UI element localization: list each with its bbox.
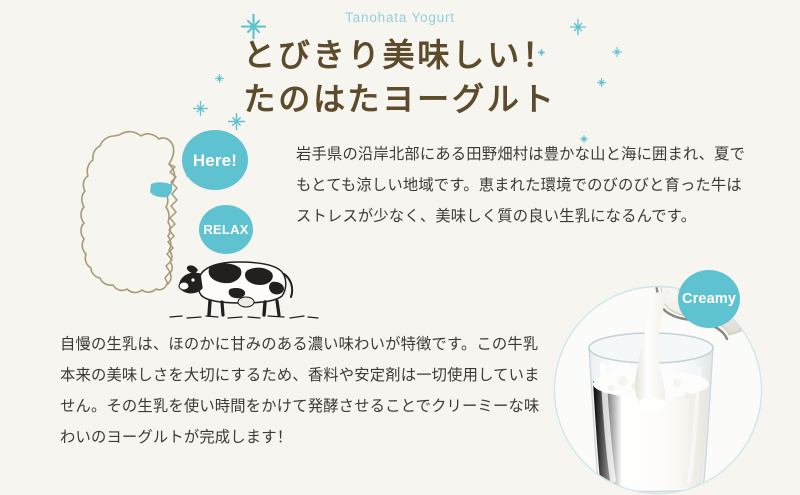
foam-bubble [684, 392, 690, 398]
tanohata-village-highlight [150, 182, 172, 197]
map-outline-path [81, 132, 175, 293]
cow-ground-line [170, 316, 318, 318]
foam-bubble [673, 379, 681, 387]
page-title: とびきり美味しい！ たのはたヨーグルト [0, 33, 800, 121]
speech-bubble-creamy-label: Creamy [682, 292, 736, 307]
promo-page: Tanohata Yogurt とびきり美味しい！ たのはたヨーグルト [0, 0, 800, 495]
cow-udder [238, 297, 254, 307]
foam-bubble [608, 385, 614, 391]
speech-bubble-here: Here! [182, 130, 248, 190]
cow-eye [191, 278, 194, 281]
intro-paragraph: 岩手県の沿岸北部にある田野畑村は豊かな山と海に囲まれ、夏でもとても涼しい地域です… [296, 139, 752, 232]
speech-bubble-here-label: Here! [193, 152, 237, 169]
cow-leg-rear-1 [264, 302, 265, 315]
milk-splash [636, 398, 668, 412]
page-title-line-2: たのはたヨーグルト [0, 77, 800, 121]
cow-svg [168, 252, 320, 324]
cow-muzzle [179, 282, 189, 290]
page-eyebrow-label: Tanohata Yogurt [0, 10, 800, 25]
speech-bubble-creamy: Creamy [678, 270, 740, 328]
speech-bubble-relax-label: RELAX [203, 223, 248, 236]
sparkle-icon [580, 130, 588, 138]
cow-leg-front-2 [222, 302, 223, 315]
speech-bubble-relax: RELAX [199, 205, 253, 254]
cow-leg-rear-2 [277, 301, 279, 315]
page-title-line-1: とびきり美味しい！ [0, 33, 800, 77]
cow-leg-front-1 [209, 301, 210, 315]
holstein-cow-illustration [168, 252, 320, 324]
foam-bubble [618, 376, 628, 386]
cow-body-group [179, 262, 292, 315]
detail-paragraph: 自慢の生乳は、ほのかに甘みのある濃い味わいが特徴です。この牛乳本来の美味しさを大… [60, 329, 540, 453]
